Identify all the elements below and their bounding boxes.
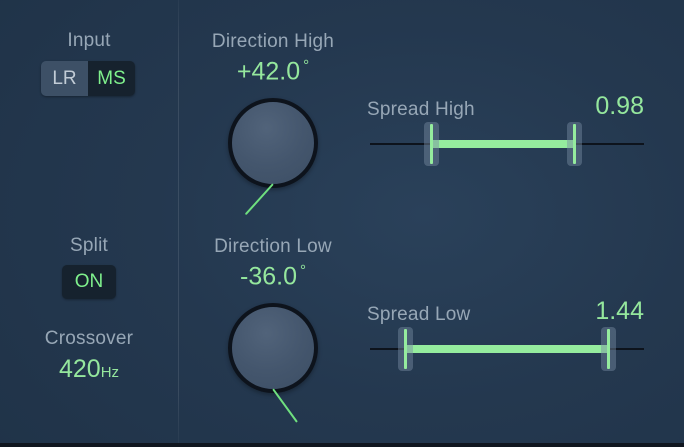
direction-low-knob[interactable] — [228, 303, 318, 393]
split-label: Split — [0, 235, 178, 257]
direction-high-knob-pointer — [245, 183, 274, 215]
spread-high-value[interactable]: 0.98 — [500, 92, 644, 121]
crossover-label: Crossover — [0, 328, 178, 350]
degree-icon: ° — [300, 262, 306, 279]
direction-high-knob[interactable] — [228, 98, 318, 188]
direction-low-value[interactable]: -36.0° — [178, 262, 368, 291]
input-mode-ms-button[interactable]: MS — [88, 61, 135, 96]
spread-low-handle-left[interactable] — [398, 327, 413, 371]
spread-high-fill — [431, 140, 573, 148]
input-label: Input — [0, 30, 178, 52]
spread-low-slider[interactable] — [370, 327, 644, 371]
input-mode-lr-button[interactable]: LR — [41, 61, 88, 96]
degree-icon: ° — [303, 57, 309, 74]
direction-high-number: +42.0 — [237, 57, 300, 85]
plugin-window: Input LR MS Split ON Crossover 420Hz Dir… — [0, 0, 684, 447]
crossover-number: 420 — [59, 355, 101, 383]
spread-low-label: Spread Low — [367, 304, 470, 326]
spread-high-handle-right[interactable] — [567, 122, 582, 166]
crossover-value[interactable]: 420Hz — [0, 355, 178, 384]
spread-low-value[interactable]: 1.44 — [500, 297, 644, 326]
input-mode-toggle[interactable]: LR MS — [41, 61, 135, 96]
split-on-button[interactable]: ON — [62, 265, 116, 299]
direction-low-knob-pointer — [272, 388, 298, 422]
spread-low-fill — [405, 345, 608, 353]
spread-high-handle-left[interactable] — [424, 122, 439, 166]
crossover-unit: Hz — [101, 364, 119, 381]
spread-low-handle-right[interactable] — [601, 327, 616, 371]
direction-low-number: -36.0 — [240, 262, 297, 290]
spread-high-label: Spread High — [367, 99, 475, 121]
direction-low-label: Direction Low — [178, 236, 368, 258]
window-bottom-bar — [0, 443, 684, 447]
direction-high-label: Direction High — [178, 31, 368, 53]
spread-high-slider[interactable] — [370, 122, 644, 166]
direction-high-value[interactable]: +42.0° — [178, 57, 368, 86]
